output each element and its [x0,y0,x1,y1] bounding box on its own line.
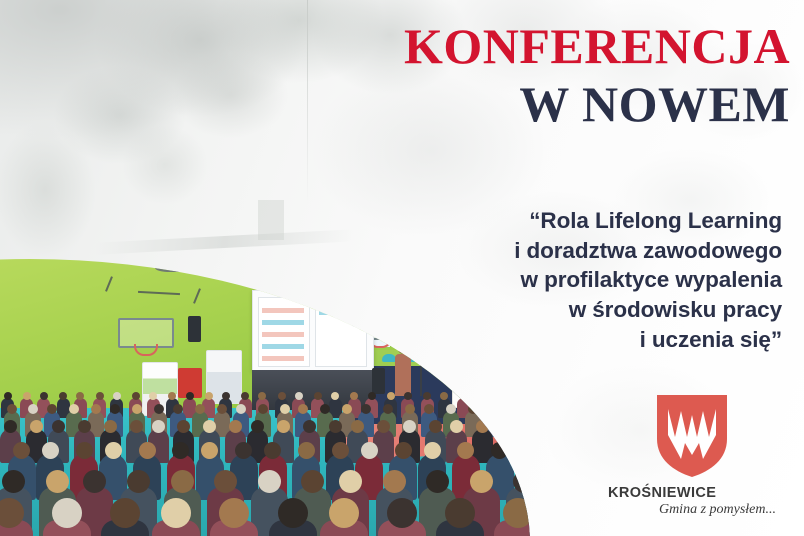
audience-person-head [298,442,315,459]
audience-person-head [23,392,31,400]
audience-person-head [173,404,183,414]
audience-person-head [258,470,281,493]
audience-person-head [110,498,140,528]
audience-person-head [377,420,390,433]
poster-canvas: KONFERENCJA W NOWEM “Rola Lifelong Learn… [0,0,804,536]
audience-person-head [424,442,441,459]
background-mast [307,0,308,205]
audience-person-head [139,442,156,459]
audience-person-head [154,404,164,414]
municipality-name: KROŚNIEWICE [608,485,782,501]
audience-person-head [96,392,104,400]
audience-person-head [332,442,349,459]
audience-person-head [339,470,362,493]
audience-person-head [424,404,434,414]
audience-person-head [104,420,117,433]
audience-person-head [205,392,213,400]
audience-person-head [251,420,264,433]
audience-person-head [186,392,194,400]
audience-person-head [445,498,475,528]
audience-person-head [152,420,165,433]
slide-icon [382,354,396,362]
audience-person-head [4,392,12,400]
audience-person-head [404,392,412,400]
audience-person-head [351,420,364,433]
background-roofline [95,229,355,255]
audience-person-head [4,420,17,433]
audience-person-head [329,420,342,433]
audience-person-head [368,392,376,400]
municipality-tagline: Gmina z pomysłem... [602,502,776,518]
audience-person-head [236,404,246,414]
audience-person-head [132,404,142,414]
audience-person-head [161,498,191,528]
quote-line: w profilaktyce wypalenia [442,265,782,295]
audience-person-head [222,392,230,400]
quote-line: i uczenia się” [442,325,782,355]
quote-line: w środowisku pracy [442,295,782,325]
municipality-logo: KROŚNIEWICE Gmina z pomysłem... [602,393,782,518]
audience-person-head [277,420,290,433]
audience-person-head [105,442,122,459]
loudspeaker [188,316,201,342]
audience-person-head [295,392,303,400]
audience-person-head [30,420,43,433]
audience-person-head [470,470,493,493]
quote-line: i doradztwa zawodowego [442,236,782,266]
basketball-hoop-icon [118,318,174,348]
audience-person-head [195,404,205,414]
audience-person-head [278,498,308,528]
audience-person-head [132,392,140,400]
slide-column [258,297,310,367]
audience-person-head [130,420,143,433]
audience-person-head [361,442,378,459]
conference-topic-quote: “Rola Lifelong Learning i doradztwa zawo… [442,206,782,354]
audience-person-head [13,442,30,459]
audience-person-head [387,392,395,400]
audience-person-head [446,404,456,414]
audience-person-head [278,392,286,400]
audience-person-head [429,420,442,433]
audience-group [0,386,540,536]
audience-person-head [405,404,415,414]
audience-person-head [214,470,237,493]
audience-person-head [113,392,121,400]
page-title: KONFERENCJA W NOWEM [404,20,790,130]
audience-person-head [217,404,227,414]
audience-person-head [303,420,316,433]
shield-w-crest-icon [602,393,782,479]
quote-line: “Rola Lifelong Learning [442,206,782,236]
audience-person-head [314,392,322,400]
audience-person-head [76,442,93,459]
audience-person-head [264,442,281,459]
audience-person-head [387,498,417,528]
audience-person-head [42,442,59,459]
audience-person-head [127,470,150,493]
audience-person-head [395,442,412,459]
audience-person-head [171,470,194,493]
headline-line-2: W NOWEM [404,78,790,130]
audience-person-head [52,420,65,433]
audience-person-head [7,404,17,414]
audience-person-head [2,470,25,493]
audience-person-head [78,420,91,433]
headline-line-1: KONFERENCJA [404,20,790,72]
audience-person-head [383,470,406,493]
audience-person-head [40,392,48,400]
audience-person-head [258,404,268,414]
audience-person-head [52,498,82,528]
audience-person-head [329,498,359,528]
audience-person-head [46,470,69,493]
audience-person-head [403,420,416,433]
audience-person-head [280,404,290,414]
